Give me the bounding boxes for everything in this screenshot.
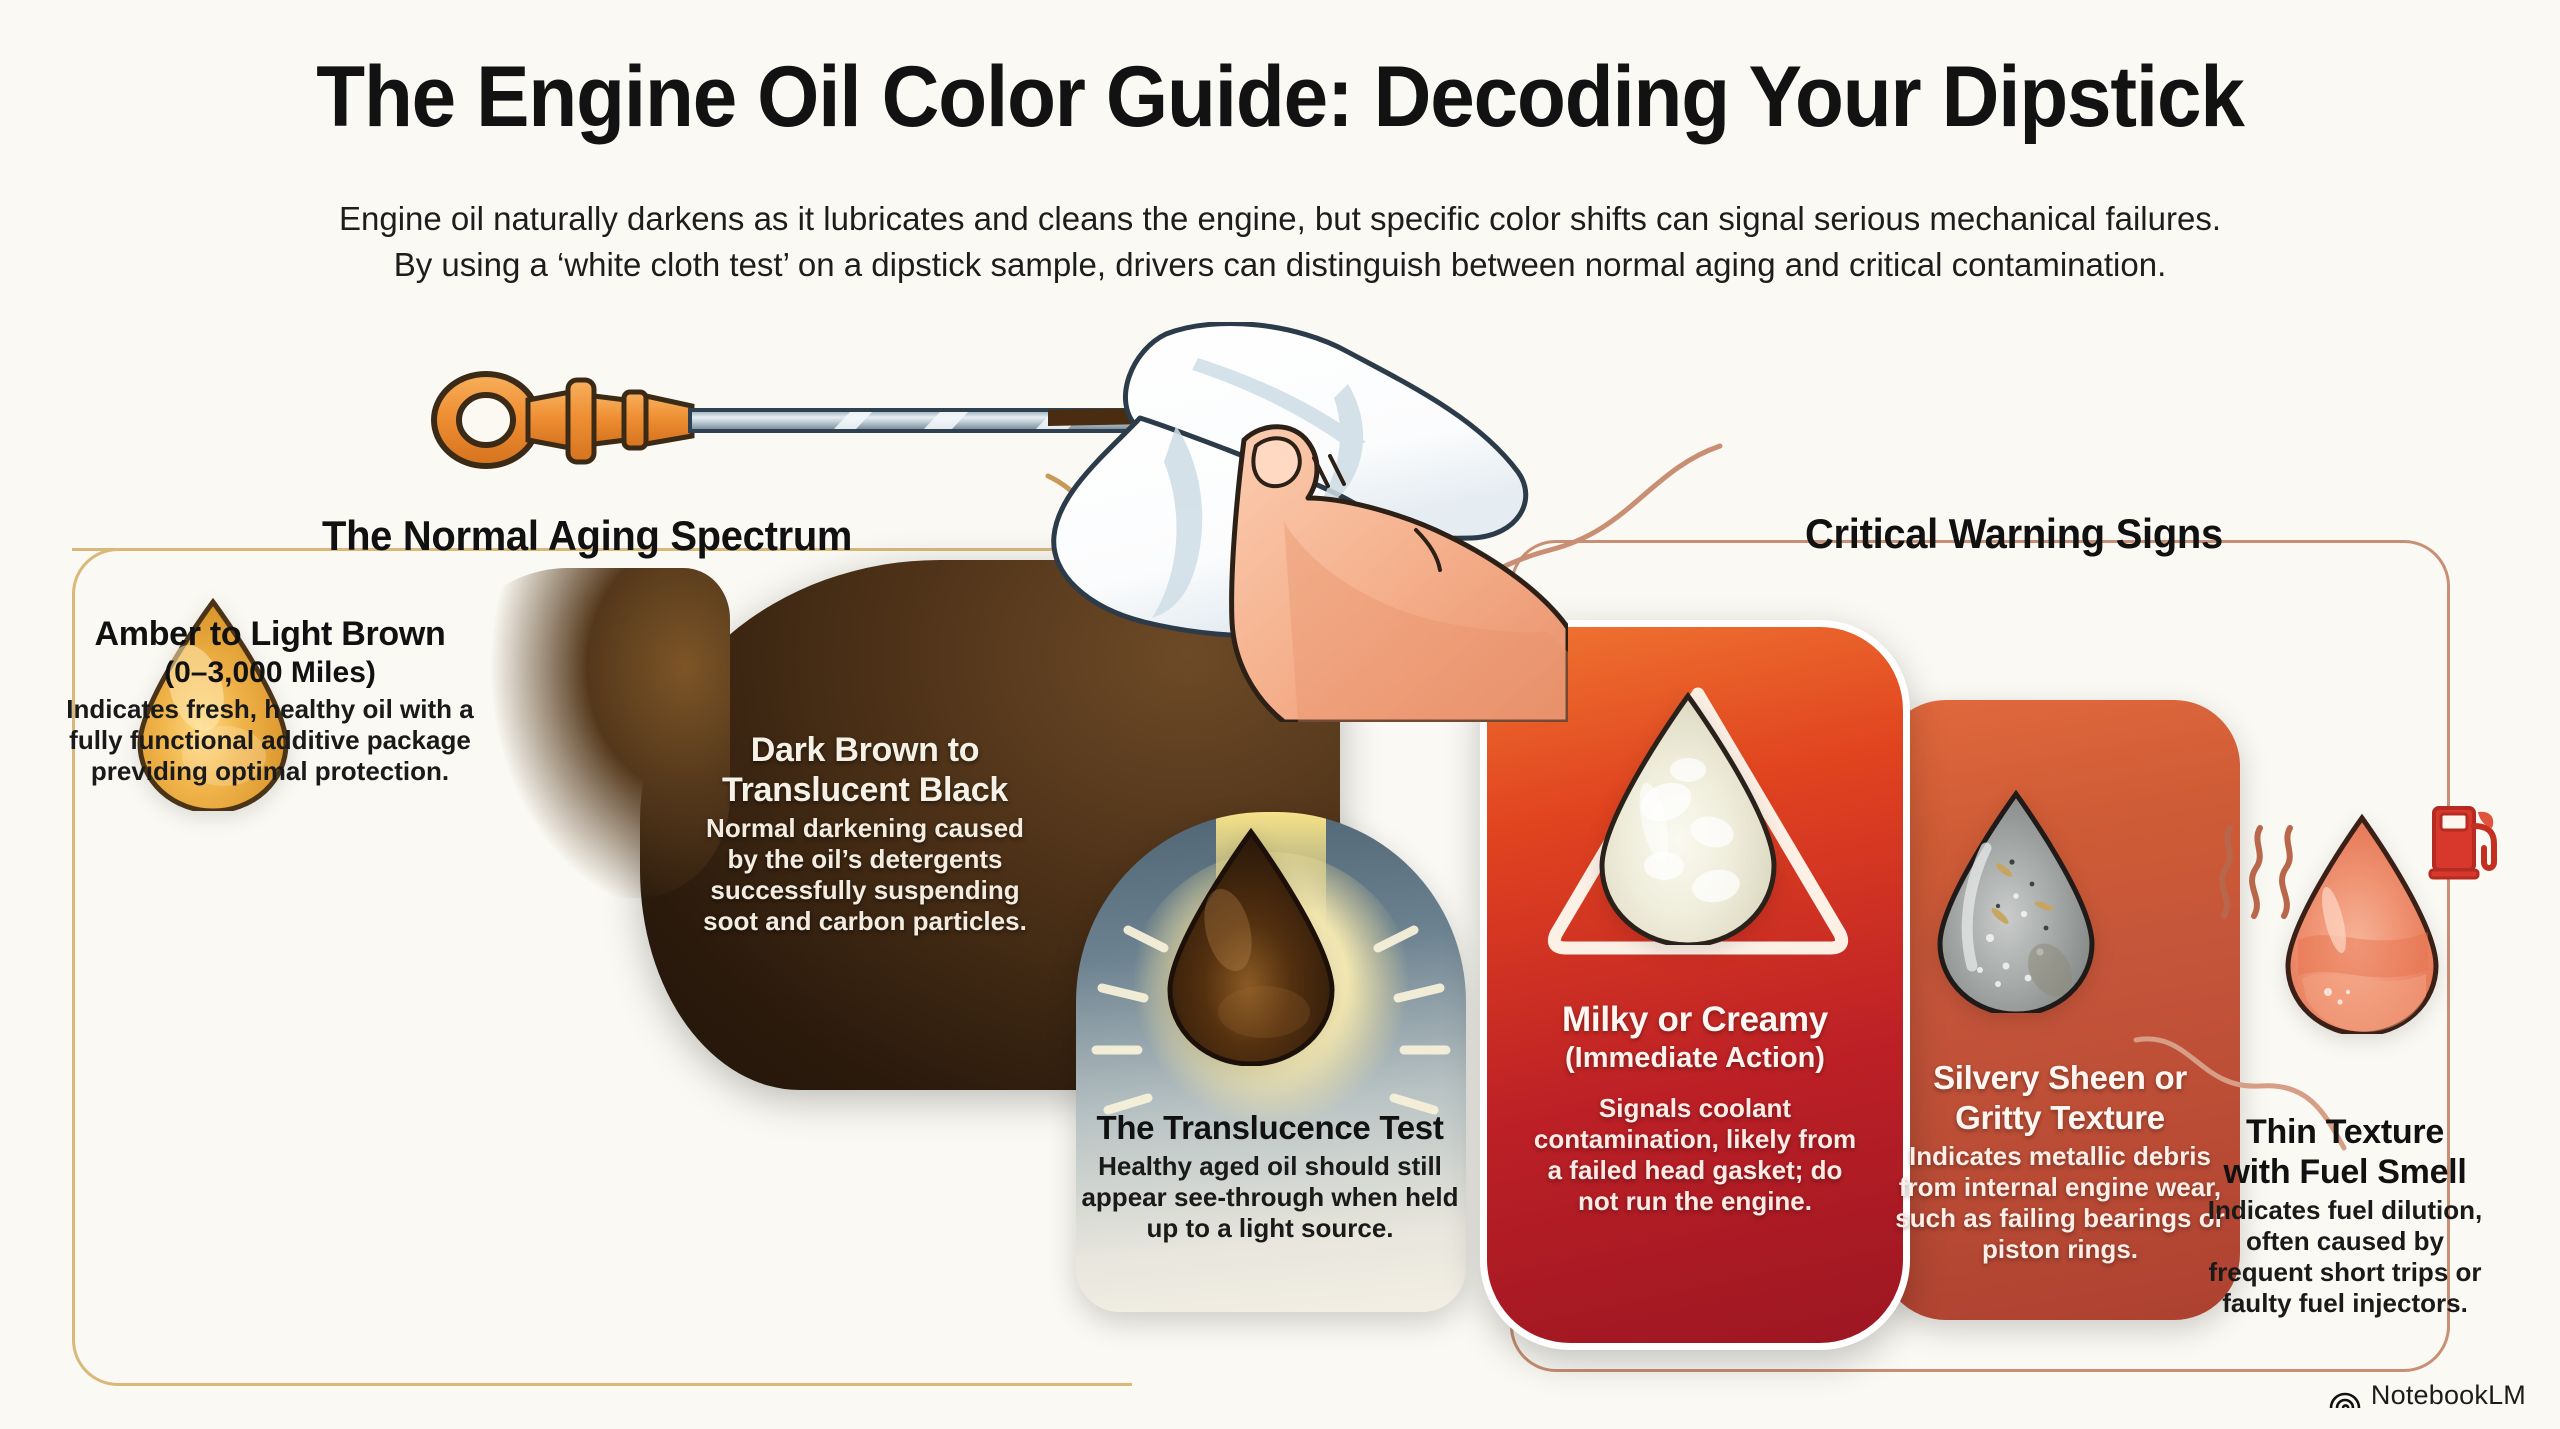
section-header-critical-warning: Critical Warning Signs xyxy=(1805,510,2223,558)
card-dark-brown: Dark Brown to Translucent Black Normal d… xyxy=(700,730,1030,937)
watermark-label: NotebookLM xyxy=(2371,1380,2526,1411)
card-silver-body: Indicates metallic debris from internal … xyxy=(1888,1141,2232,1265)
card-milky-title: Milky or Creamy xyxy=(1525,1000,1865,1040)
card-fuel-title-line-1: Thin Texture xyxy=(2200,1112,2490,1152)
card-milky-creamy: Milky or Creamy (Immediate Action) Signa… xyxy=(1525,1000,1865,1217)
card-milky-subtitle: (Immediate Action) xyxy=(1525,1040,1865,1077)
card-dark-title-line-1: Dark Brown to xyxy=(700,730,1030,770)
card-amber-title: Amber to Light Brown xyxy=(60,614,480,654)
card-dark-body: Normal darkening caused by the oil’s det… xyxy=(700,813,1030,937)
card-amber-body: Indicates fresh, healthy oil with a full… xyxy=(60,694,480,787)
backlit-drop-icon xyxy=(1156,826,1346,1066)
card-silvery-sheen: Silvery Sheen or Gritty Texture Indicate… xyxy=(1888,1058,2232,1265)
card-fuel-body: Indicates fuel dilution, often caused by… xyxy=(2200,1195,2490,1319)
card-silver-title-line-1: Silvery Sheen or xyxy=(1888,1058,2232,1098)
card-fuel-title-line-2: with Fuel Smell xyxy=(2200,1152,2490,1192)
fuel-dilution-drop-icon xyxy=(2276,812,2448,1034)
fuel-pump-icon xyxy=(2428,800,2502,886)
metallic-drop-icon xyxy=(1928,788,2104,1013)
subtitle-line-2: By using a ‘white cloth test’ on a dipst… xyxy=(250,242,2310,288)
section-header-normal-aging: The Normal Aging Spectrum xyxy=(322,512,852,560)
card-amber-subtitle: (0–3,000 Miles) xyxy=(60,654,480,691)
page-title: The Engine Oil Color Guide: Decoding You… xyxy=(90,48,2471,147)
card-dark-title-line-2: Translucent Black xyxy=(700,770,1030,810)
watermark: NotebookLM xyxy=(2329,1380,2526,1411)
card-translucence-title: The Translucence Test xyxy=(1070,1108,1470,1148)
card-milky-body: Signals coolant contamination, likely fr… xyxy=(1525,1093,1865,1217)
hand-holding-white-cloth xyxy=(1048,322,1568,722)
card-translucence-test: The Translucence Test Healthy aged oil s… xyxy=(1070,1108,1470,1244)
notebooklm-spiral-icon xyxy=(2329,1381,2361,1411)
subtitle-line-1: Engine oil naturally darkens as it lubri… xyxy=(250,196,2310,242)
card-fuel-dilution: Thin Texture with Fuel Smell Indicates f… xyxy=(2200,1112,2490,1319)
milky-drop-icon xyxy=(1588,690,1788,945)
card-amber: Amber to Light Brown (0–3,000 Miles) Ind… xyxy=(60,600,480,787)
vapor-lines-icon xyxy=(2210,820,2300,930)
card-silver-title-line-2: Gritty Texture xyxy=(1888,1098,2232,1138)
card-translucence-body: Healthy aged oil should still appear see… xyxy=(1070,1151,1470,1244)
page-subtitle: Engine oil naturally darkens as it lubri… xyxy=(250,196,2310,288)
infographic-canvas: The Engine Oil Color Guide: Decoding You… xyxy=(0,0,2560,1429)
